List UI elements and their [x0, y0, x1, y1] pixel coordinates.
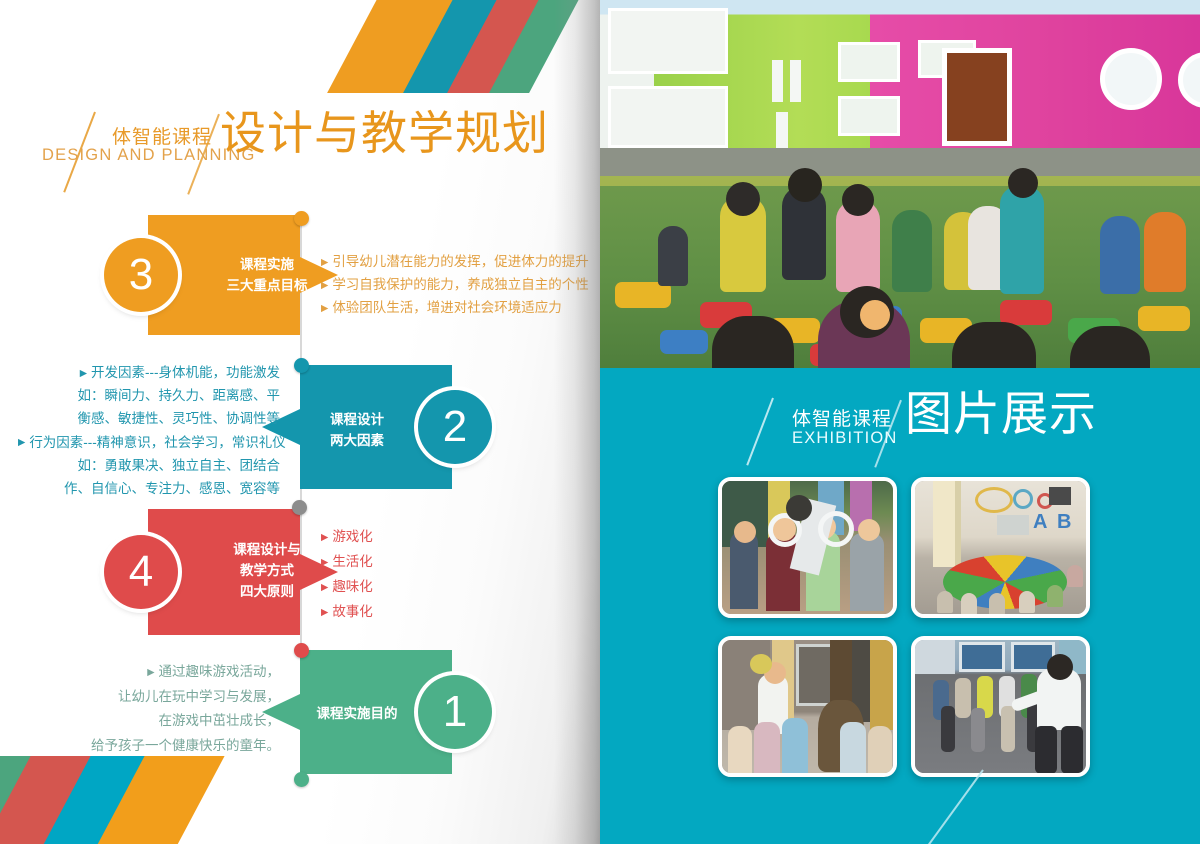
- hero-photo: [600, 0, 1200, 368]
- headline-subtitle: 体智能课程: [112, 122, 212, 149]
- right-page-title: 图片展示: [905, 390, 1097, 437]
- left-page-headline: 体智能课程 DESIGN AND PLANNING 设计与教学规划: [42, 116, 562, 194]
- gallery-photo-1[interactable]: [718, 477, 897, 618]
- step-number-1: 1: [418, 675, 492, 749]
- connector-dot-bottom: [294, 772, 309, 787]
- connector-dot-2: [294, 358, 309, 373]
- page-title: 设计与教学规划: [220, 110, 549, 156]
- bullet-list-1: 通过趣味游戏活动， 让幼儿在玩中学习与发展， 在游戏中茁壮成长， 给予孩子一个健…: [30, 660, 280, 758]
- arrow-label-2: 课程设计 两大因素: [297, 410, 417, 452]
- step-number-4: 4: [104, 535, 178, 609]
- step-number-2: 2: [418, 390, 492, 464]
- arrow-label-3: 课程实施 三大重点目标: [207, 255, 327, 297]
- gallery-photo-4[interactable]: [911, 636, 1090, 777]
- left-page: 体智能课程 DESIGN AND PLANNING 设计与教学规划 3 课程实施…: [0, 0, 600, 844]
- diagram-row-2: 2 课程设计 两大因素 开发因素---身体机能，功能激发 如：瞬间力、持久力、距…: [0, 357, 600, 497]
- right-headline-slash-icon: [746, 398, 774, 466]
- gallery-photo-2[interactable]: A B: [911, 477, 1090, 618]
- diagram-row-1: 1 课程实施目的 通过趣味游戏活动， 让幼儿在玩中学习与发展， 在游戏中茁壮成长…: [0, 642, 600, 782]
- process-diagram: 3 课程实施 三大重点目标 引导幼儿潜在能力的发挥，促进体力的提升 学习自我保护…: [0, 205, 600, 785]
- connector-dot-4: [294, 643, 309, 658]
- diagram-row-3: 3 课程实施 三大重点目标 引导幼儿潜在能力的发挥，促进体力的提升 学习自我保护…: [0, 205, 600, 345]
- connector-dot-top: [294, 211, 309, 226]
- gallery-photo-3[interactable]: [718, 636, 897, 777]
- right-headline-subtitle: 体智能课程: [792, 404, 892, 431]
- bullet-list-4: 游戏化 生活化 趣味化 故事化: [321, 524, 373, 624]
- photo-gallery: A B: [718, 477, 1090, 777]
- brochure-spread: 体智能课程 DESIGN AND PLANNING 设计与教学规划 3 课程实施…: [0, 0, 1200, 844]
- right-headline-english: EXHIBITION: [792, 429, 898, 448]
- page-gutter-shadow: [554, 0, 600, 844]
- right-page-headline: 体智能课程 EXHIBITION 图片展示: [750, 398, 1180, 468]
- step-number-3: 3: [104, 238, 178, 312]
- arrow-label-4: 课程设计与 教学方式 四大原则: [207, 540, 327, 603]
- connector-dot-3: [292, 500, 307, 515]
- bullet-list-2: 开发因素---身体机能，功能激发 如：瞬间力、持久力、距离感、平 衡感、敏捷性、…: [18, 361, 280, 500]
- diagram-row-4: 4 课程设计与 教学方式 四大原则 游戏化 生活化 趣味化 故事化: [0, 497, 600, 642]
- bullet-list-3: 引导幼儿潜在能力的发挥，促进体力的提升 学习自我保护的能力，养成独立自主的个性 …: [321, 250, 589, 320]
- arrow-label-1: 课程实施目的: [297, 704, 417, 725]
